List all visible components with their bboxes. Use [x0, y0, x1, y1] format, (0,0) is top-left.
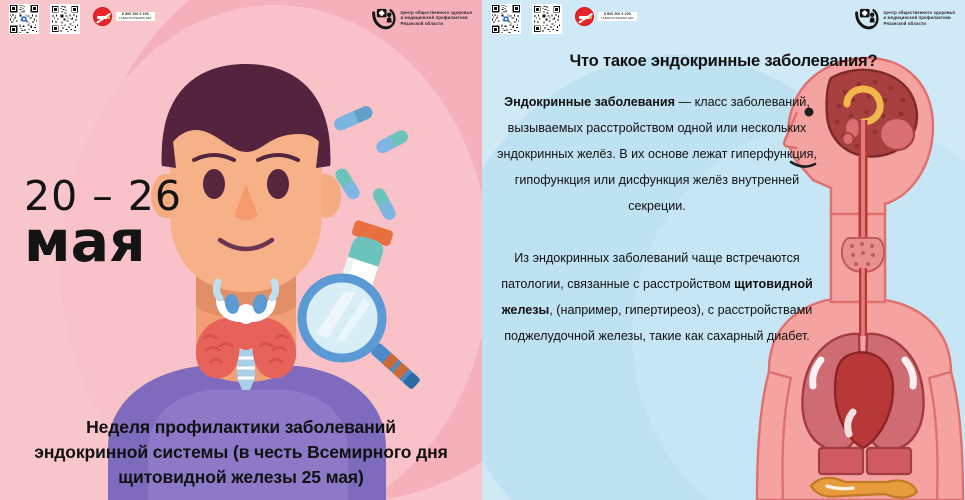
no-smoking-icon [575, 7, 594, 26]
health-center-logo-icon [371, 5, 397, 31]
date-block: 20 – 26 мая [24, 178, 182, 267]
paragraph-1: Эндокринные заболевания — класс заболева… [492, 90, 822, 220]
org-line-3: Рязанской области [884, 21, 956, 27]
caption-line-2: эндокринной системы (в честь Всемирного … [14, 440, 468, 465]
paragraph-1-bold-lead: Эндокринные заболевания [504, 95, 675, 109]
hotline-label: 8 800 200 0 200 ТАБАКУКУРЕНИЮ.НЕТ [598, 12, 637, 21]
org-line-2: и медицинской профилактики [401, 15, 473, 21]
right-poster-header: 8 800 200 0 200 ТАБАКУКУРЕНИЮ.НЕТ Центр … [482, 0, 965, 40]
qr-code-2[interactable] [50, 4, 80, 34]
paragraph-2-part-2: , (например, гипертиреоз), с расстройств… [504, 303, 812, 343]
caption-line-3: щитовидной железы 25 мая) [14, 465, 468, 490]
no-smoking-block: 8 800 200 0 200 ТАБАКУКУРЕНИЮ.НЕТ [93, 7, 155, 26]
left-poster-header: 8 800 200 0 200 ТАБАКУКУРЕНИЮ.НЕТ Центр … [0, 0, 482, 40]
qr-code-2[interactable] [532, 4, 562, 34]
left-poster-caption: Неделя профилактики заболеваний эндокрин… [0, 415, 482, 490]
left-poster: 20 – 26 мая Неделя профилактики заболева… [0, 0, 482, 500]
org-line-3: Рязанской области [401, 21, 473, 27]
caption-line-1: Неделя профилактики заболеваний [14, 415, 468, 440]
org-logo-text: Центр общественного здоровья и медицинск… [401, 10, 473, 27]
hotline-site: ТАБАКУКУРЕНИЮ.НЕТ [119, 17, 152, 20]
qr-code-1[interactable] [9, 4, 39, 34]
paragraph-1-rest: — класс заболеваний, вызываемых расстрой… [497, 95, 817, 213]
poster-pair: 20 – 26 мая Неделя профилактики заболева… [0, 0, 965, 500]
no-smoking-icon [93, 7, 112, 26]
hotline-label: 8 800 200 0 200 ТАБАКУКУРЕНИЮ.НЕТ [116, 12, 155, 21]
right-poster: Что такое эндокринные заболевания? Эндок… [482, 0, 965, 500]
org-logo: Центр общественного здоровья и медицинск… [371, 5, 473, 31]
hotline-site: ТАБАКУКУРЕНИЮ.НЕТ [601, 17, 634, 20]
paragraph-2: Из эндокринных заболеваний чаще встречаю… [492, 246, 822, 350]
date-month: мая [24, 217, 182, 267]
no-smoking-block: 8 800 200 0 200 ТАБАКУКУРЕНИЮ.НЕТ [575, 7, 637, 26]
org-logo-text: Центр общественного здоровья и медицинск… [884, 10, 956, 27]
right-poster-body: Эндокринные заболевания — класс заболева… [492, 90, 822, 349]
health-center-logo-icon [854, 5, 880, 31]
org-logo: Центр общественного здоровья и медицинск… [854, 5, 956, 31]
right-poster-title: Что такое эндокринные заболевания? [482, 52, 965, 71]
org-line-2: и медицинской профилактики [884, 15, 956, 21]
qr-code-1[interactable] [491, 4, 521, 34]
